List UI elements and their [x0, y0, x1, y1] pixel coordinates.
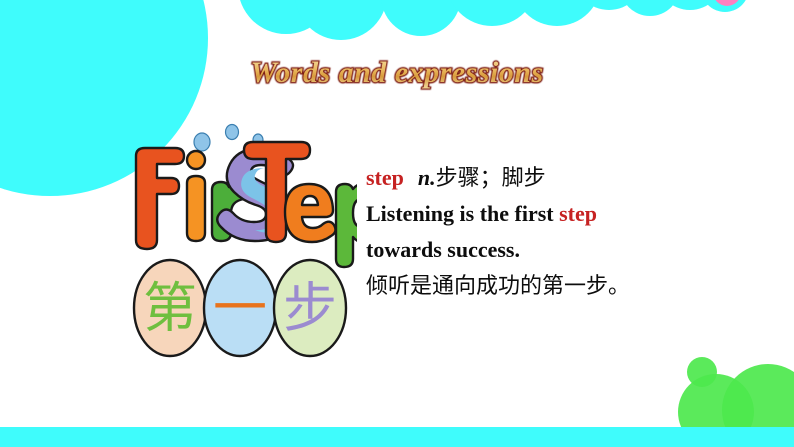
slide-canvas: Words and expressions Words and expressi… [0, 0, 794, 447]
gloss-chinese: 步骤；脚步 [436, 165, 546, 190]
definition-line-example-chinese: 倾听是通向成功的第一步。 [366, 268, 666, 304]
logo-letter-e [285, 184, 335, 242]
headword: step [366, 165, 404, 190]
top-bubble-8 [656, 0, 724, 10]
logo-badges: 第 一 步 [134, 260, 346, 356]
top-bubble-1 [238, 0, 334, 34]
definition-line-example-1: Listening is the first step [366, 196, 666, 232]
definition-line-headword: stepn.步骤；脚步 [366, 160, 666, 196]
logo-letter-i [187, 176, 205, 241]
badge-char-2: 一 [213, 277, 267, 340]
example-keyword: step [559, 201, 597, 226]
top-bubble-5 [513, 0, 601, 26]
logo-letter-F [136, 148, 184, 249]
example-chinese: 倾听是通向成功的第一步。 [366, 273, 630, 298]
top-bubble-pink [713, 0, 741, 6]
logo-letter-p [336, 183, 357, 267]
top-bubble-9 [701, 0, 749, 12]
definition-block: stepn.步骤；脚步 Listening is the first step … [366, 160, 666, 304]
definition-line-example-2: towards success. [366, 232, 666, 268]
firstep-logo: 第 一 步 [122, 120, 357, 370]
page-title-text: Words and expressions [250, 56, 543, 90]
top-bubble-7 [620, 0, 680, 16]
top-bubble-2 [295, 0, 387, 40]
example-english-before: Listening is the first [366, 201, 554, 226]
logo-letter-i-dot [187, 151, 205, 169]
bottom-cyan-band [0, 427, 794, 447]
top-bubble-3 [381, 0, 461, 36]
bottom-bubble-small [687, 357, 717, 387]
part-of-speech: n. [418, 165, 436, 190]
badge-char-3: 步 [283, 277, 337, 340]
page-title: Words and expressions [0, 56, 794, 90]
badge-char-1: 第 [143, 277, 197, 340]
example-english-after: towards success. [366, 237, 520, 262]
top-bubble-6 [573, 0, 645, 10]
top-bubble-4 [446, 0, 538, 26]
